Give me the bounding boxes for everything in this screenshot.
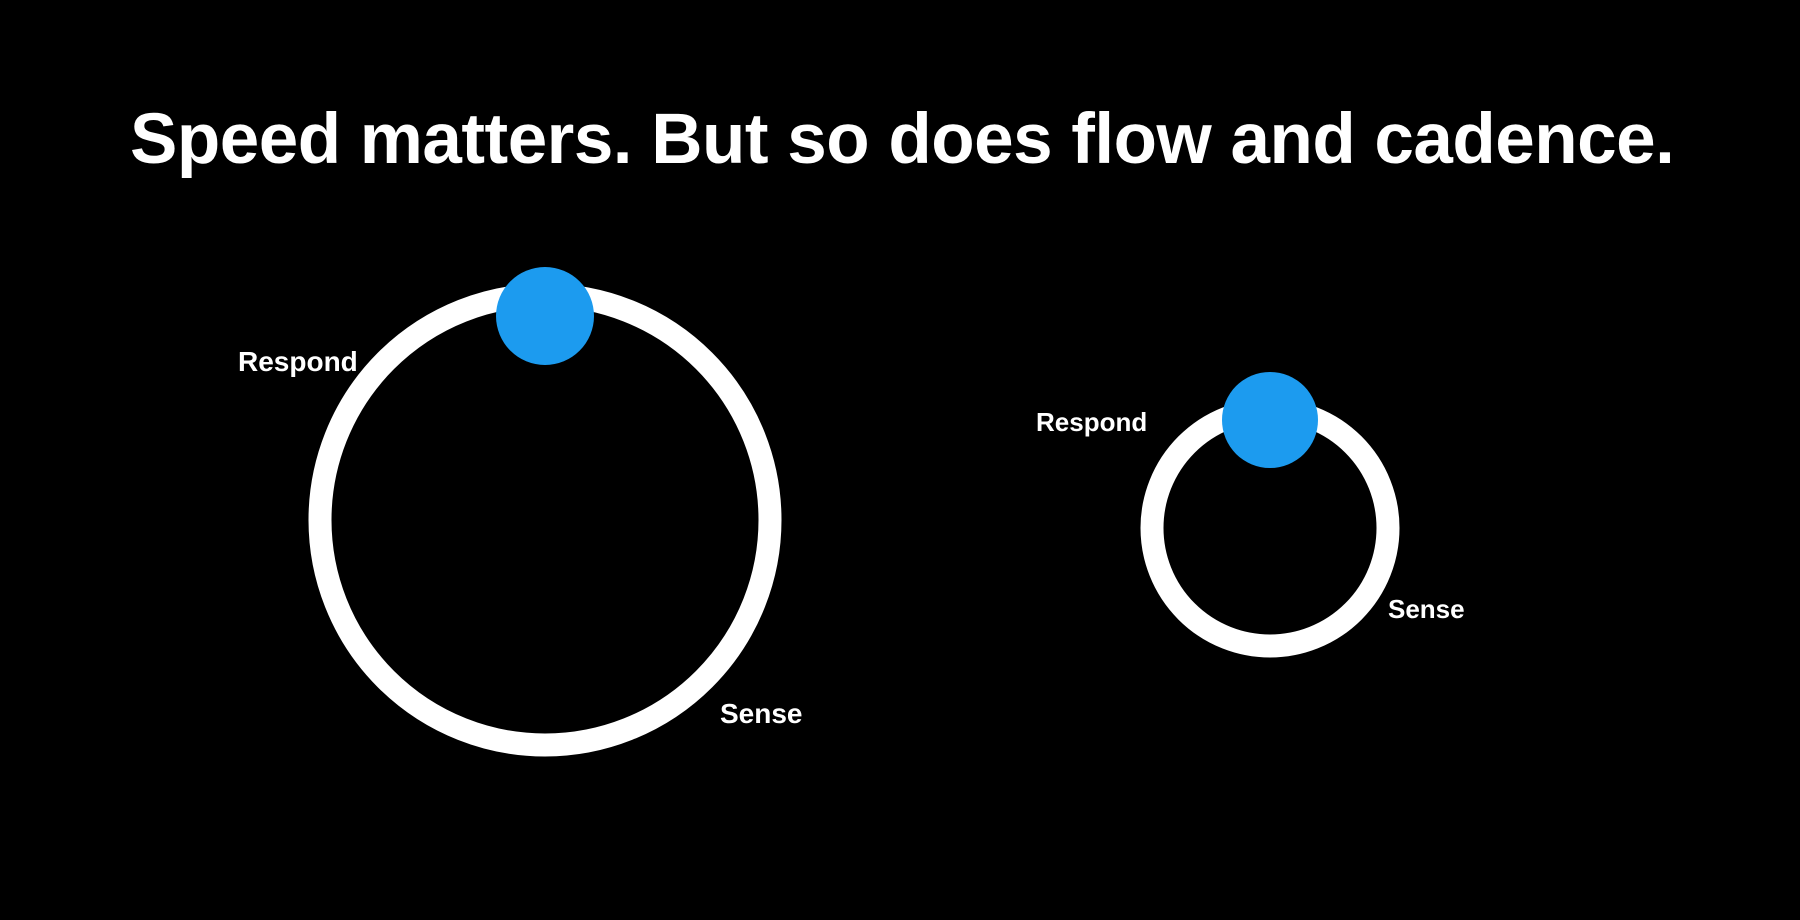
loops-diagram: Respond Sense Respond Sense (0, 0, 1800, 920)
small-loop-svg (1140, 398, 1400, 658)
large-loop-respond-label: Respond (238, 348, 358, 376)
large-loop-sense-label: Sense (720, 700, 803, 728)
large-loop (308, 283, 782, 757)
small-loop-marker-dot[interactable] (1222, 372, 1318, 468)
small-loop (1140, 398, 1400, 658)
small-loop-sense-label: Sense (1388, 596, 1465, 622)
small-loop-respond-label: Respond (1036, 409, 1147, 435)
slide-canvas: Speed matters. But so does flow and cade… (0, 0, 1800, 920)
large-loop-marker-dot[interactable] (496, 267, 594, 365)
large-loop-svg (308, 283, 782, 757)
